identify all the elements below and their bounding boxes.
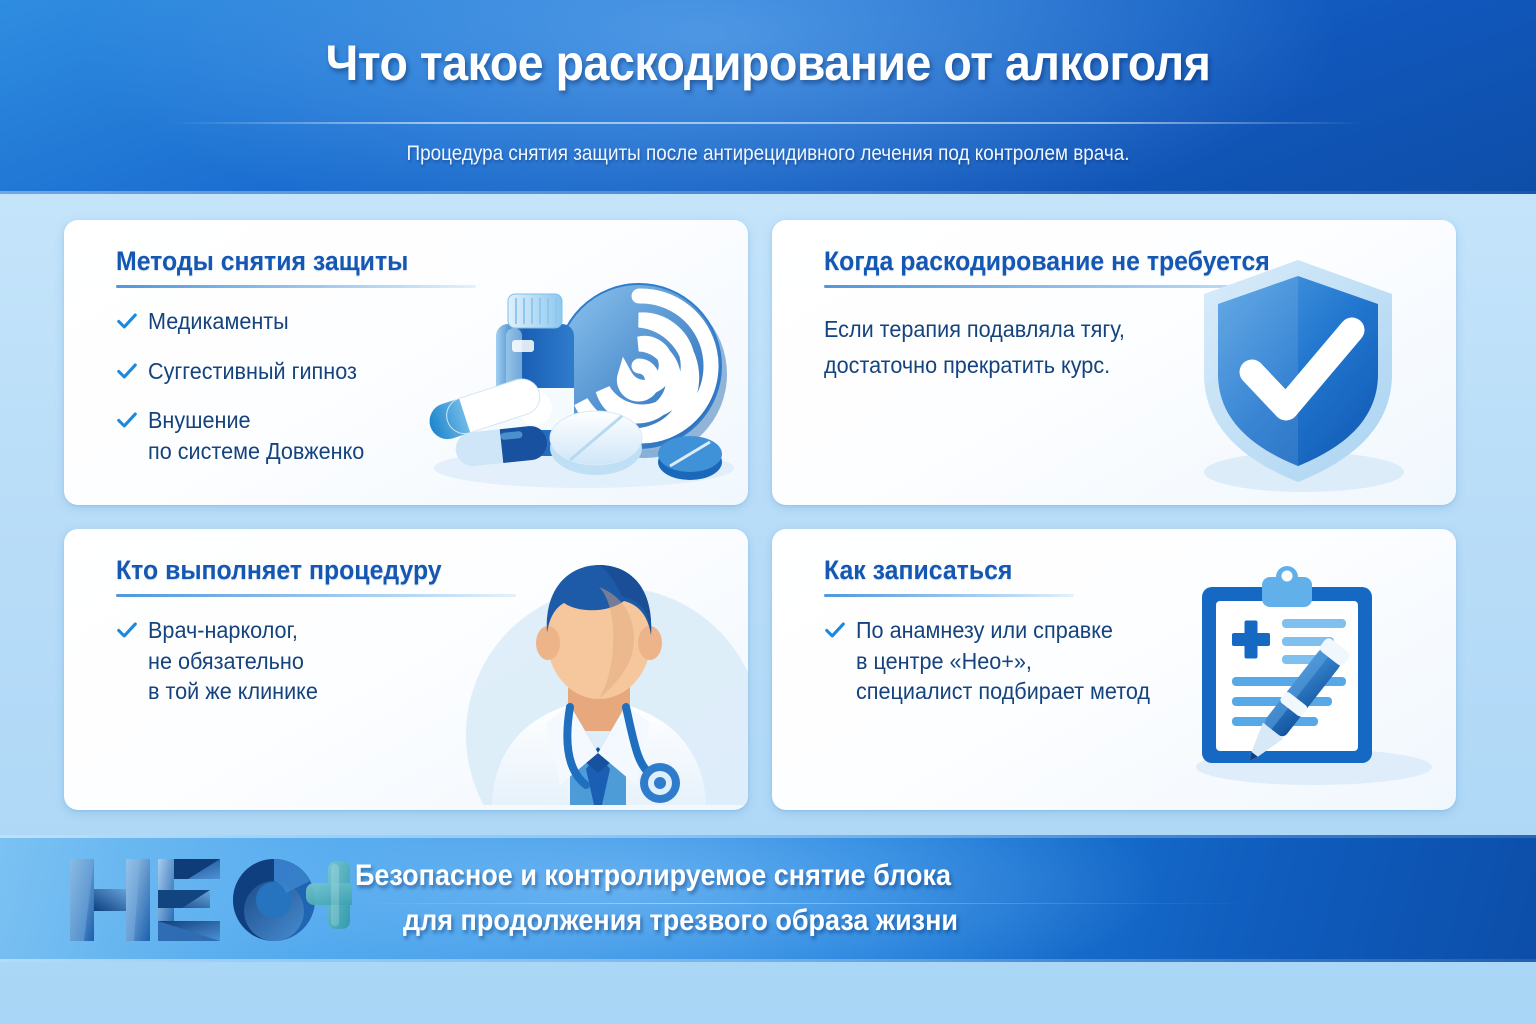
list-item: Врач-нарколог, не обязательно в той же к… xyxy=(116,615,516,707)
list-item-label: Внушение по системе Довженко xyxy=(148,405,364,466)
title-underline xyxy=(116,594,516,597)
check-icon xyxy=(116,310,138,332)
card-who-performs-header: Кто выполняет процедуру xyxy=(116,555,676,597)
card-how-to-book-body: По анамнезу или справке в центре «Нео+»,… xyxy=(824,615,1254,726)
card-methods-header: Методы снятия защиты xyxy=(116,246,676,288)
page-title: Что такое раскодирование от алкоголя xyxy=(54,34,1482,92)
list-item-label: Медикаменты xyxy=(148,306,289,337)
neo-plus-logo xyxy=(62,853,352,947)
list-item: Медикаменты xyxy=(116,306,516,337)
card-who-performs-body: Врач-нарколог, не обязательно в той же к… xyxy=(116,615,516,726)
card-how-to-book: Как записаться По анамнезу или справке в… xyxy=(772,529,1456,810)
page-header: Что такое раскодирование от алкоголя Про… xyxy=(0,0,1536,194)
check-icon xyxy=(824,619,846,641)
list-item: Внушение по системе Довженко xyxy=(116,405,516,466)
check-icon xyxy=(116,409,138,431)
card-how-to-book-title: Как записаться xyxy=(824,555,1339,586)
card-who-performs-title: Кто выполняет процедуру xyxy=(116,555,631,586)
list-item: По анамнезу или справке в центре «Нео+»,… xyxy=(824,615,1254,707)
card-not-required-header: Когда раскодирование не требуется xyxy=(824,246,1384,288)
card-who-performs: Кто выполняет процедуру Врач-нарколог, н… xyxy=(64,529,748,810)
card-methods-body: Медикаменты Суггестивный гипноз Внушение… xyxy=(116,306,516,485)
title-underline xyxy=(824,285,1364,288)
card-how-to-book-header: Как записаться xyxy=(824,555,1384,597)
check-icon xyxy=(116,360,138,382)
page-footer: Безопасное и контролируемое снятие блока… xyxy=(0,835,1536,962)
footer-divider xyxy=(355,903,1255,904)
list-item-label: Суггестивный гипноз xyxy=(148,356,357,387)
footer-tagline: Безопасное и контролируемое снятие блока… xyxy=(355,853,1455,943)
card-not-required: Когда раскодирование не требуется Если т… xyxy=(772,220,1456,505)
footer-tagline-line2: для продолжения трезвого образа жизни xyxy=(403,898,1350,943)
page-subtitle: Процедура снятия защиты после антирециди… xyxy=(77,142,1459,166)
card-not-required-text: Если терапия подавляла тягу, достаточно … xyxy=(824,312,1228,383)
list-item-label: Врач-нарколог, не обязательно в той же к… xyxy=(148,615,318,707)
title-underline xyxy=(824,594,1074,597)
card-methods-title: Методы снятия защиты xyxy=(116,246,631,277)
list-item: Суггестивный гипноз xyxy=(116,356,516,387)
list-item-label: По анамнезу или справке в центре «Нео+»,… xyxy=(856,615,1150,707)
title-underline xyxy=(116,285,476,288)
card-not-required-title: Когда раскодирование не требуется xyxy=(824,246,1339,277)
cards-grid: Методы снятия защиты Медикаменты Суггест… xyxy=(64,220,1472,810)
card-not-required-body: Если терапия подавляла тягу, достаточно … xyxy=(824,312,1254,383)
check-icon xyxy=(116,619,138,641)
footer-tagline-line1: Безопасное и контролируемое снятие блока xyxy=(355,853,1345,898)
card-methods: Методы снятия защиты Медикаменты Суггест… xyxy=(64,220,748,505)
header-divider xyxy=(168,122,1368,124)
